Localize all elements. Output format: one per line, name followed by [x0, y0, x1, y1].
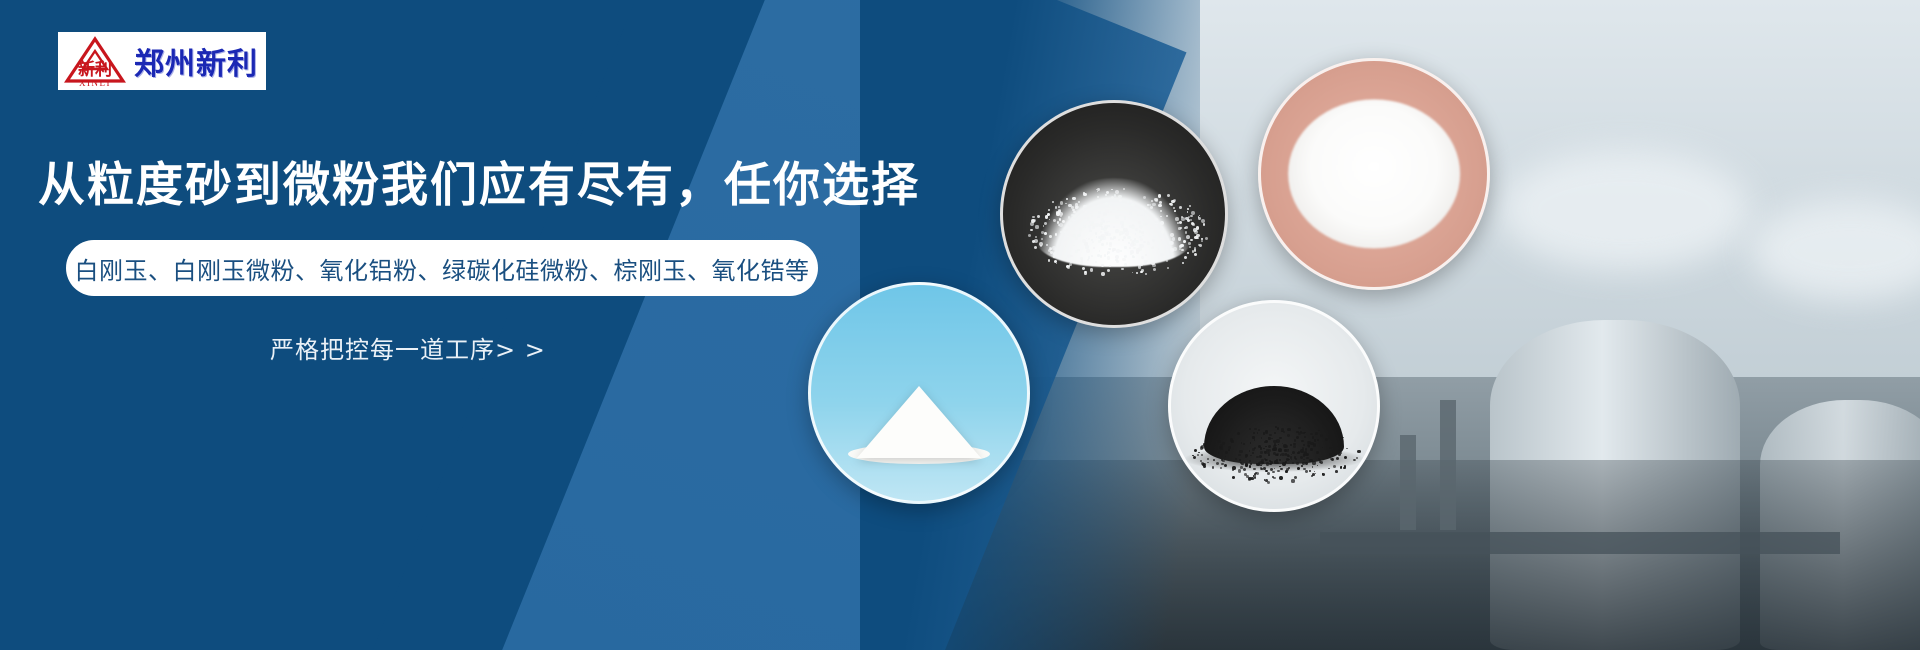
grain-speck [1079, 228, 1082, 231]
grain-speck [1030, 229, 1033, 232]
pipe-run [1320, 532, 1840, 554]
grain-speck [1275, 454, 1277, 456]
grain-speck [1145, 254, 1147, 256]
grain-speck [1251, 477, 1254, 480]
grain-speck [1261, 437, 1262, 438]
grain-speck [1184, 256, 1187, 259]
grain-speck [1077, 249, 1079, 251]
grain-speck [1185, 231, 1187, 233]
grain-speck [1069, 222, 1072, 225]
white-powder-mass [1288, 99, 1460, 248]
grain-speck [1032, 216, 1034, 218]
grain-speck [1093, 247, 1095, 249]
grain-speck [1180, 244, 1184, 248]
grain-speck [1120, 250, 1122, 252]
grain-speck [1250, 463, 1252, 465]
grain-speck [1346, 448, 1348, 450]
grain-speck [1049, 219, 1050, 220]
grain-speck [1201, 454, 1203, 456]
grain-speck [1132, 272, 1134, 274]
grain-speck [1307, 441, 1310, 444]
grain-speck [1298, 451, 1300, 453]
grain-speck [1082, 267, 1086, 271]
grain-speck [1101, 234, 1104, 237]
grain-speck [1265, 479, 1268, 482]
grain-speck [1132, 224, 1134, 226]
grain-speck [1115, 255, 1119, 259]
grain-speck [1123, 188, 1125, 190]
grain-speck [1310, 433, 1312, 435]
grain-speck [1083, 205, 1087, 209]
grain-speck [1178, 237, 1181, 240]
grain-speck [1072, 209, 1074, 211]
grain-speck [1312, 436, 1315, 439]
grain-speck [1160, 238, 1161, 239]
grain-speck [1140, 238, 1143, 241]
grain-speck [1258, 445, 1261, 448]
grain-speck [1112, 206, 1115, 209]
grain-speck [1189, 205, 1191, 207]
grain-speck [1065, 257, 1067, 259]
grain-speck [1140, 264, 1142, 266]
product-photo-dark-abrasive [1000, 100, 1228, 328]
grain-speck [1310, 448, 1313, 451]
grain-speck [1303, 454, 1305, 456]
grain-speck [1291, 454, 1292, 455]
grain-speck [1191, 211, 1195, 215]
grain-speck [1136, 272, 1138, 274]
grain-speck [1138, 221, 1140, 223]
grain-speck [1119, 231, 1123, 235]
grain-speck [1221, 463, 1223, 465]
grain-speck [1248, 478, 1251, 481]
grain-speck [1048, 259, 1051, 262]
grain-speck [1235, 458, 1237, 460]
grain-speck [1188, 242, 1191, 245]
grain-speck [1213, 459, 1215, 461]
grain-speck [1151, 262, 1155, 266]
grain-speck [1187, 211, 1188, 212]
grain-speck [1318, 458, 1320, 460]
grain-speck [1088, 238, 1090, 240]
grain-speck [1092, 226, 1095, 229]
grain-speck [1178, 227, 1181, 230]
grain-speck [1272, 471, 1275, 474]
grain-speck [1161, 230, 1164, 233]
grain-speck [1121, 268, 1124, 271]
grain-speck [1238, 454, 1240, 456]
grain-speck [1342, 437, 1343, 438]
grain-speck [1278, 444, 1279, 445]
grain-speck [1309, 470, 1311, 472]
grain-speck [1312, 461, 1315, 464]
grain-speck [1084, 242, 1088, 246]
grain-speck [1130, 253, 1132, 255]
grain-speck [1277, 470, 1280, 473]
grain-speck [1143, 196, 1146, 199]
grain-speck [1303, 444, 1305, 446]
grain-speck [1320, 434, 1323, 437]
grain-speck [1356, 457, 1358, 459]
grain-speck [1315, 432, 1318, 435]
grain-speck [1097, 215, 1100, 218]
grain-speck [1259, 455, 1262, 458]
grain-speck [1205, 237, 1209, 241]
grain-speck [1104, 254, 1107, 257]
grain-speck [1305, 470, 1307, 472]
grain-speck [1060, 201, 1064, 205]
grain-speck [1124, 263, 1127, 266]
grain-speck [1256, 456, 1258, 458]
grain-speck [1332, 450, 1335, 453]
grain-speck [1034, 246, 1037, 249]
grain-speck [1322, 473, 1324, 475]
grain-speck [1160, 221, 1164, 225]
grain-speck [1130, 203, 1133, 206]
grain-speck [1340, 452, 1342, 454]
grain-speck [1075, 206, 1078, 209]
grain-speck [1107, 269, 1110, 272]
company-logo[interactable]: 新利 XINLI 郑州新利 [58, 32, 266, 90]
grain-speck [1107, 233, 1110, 236]
grain-speck [1316, 451, 1319, 454]
grain-speck [1101, 272, 1104, 275]
grain-speck [1187, 208, 1189, 210]
grain-speck [1278, 448, 1282, 452]
grain-speck [1173, 199, 1176, 202]
grain-speck [1276, 439, 1279, 442]
grain-speck [1056, 255, 1058, 257]
triangle-logo-icon: 新利 XINLI [64, 35, 126, 87]
grain-speck [1304, 436, 1306, 438]
product-list-text: 白刚玉、白刚玉微粉、氧化铝粉、绿碳化硅微粉、棕刚玉、氧化锆等 [75, 251, 810, 286]
grain-speck [1080, 261, 1083, 264]
grain-speck [1249, 466, 1251, 468]
company-name-text: 郑州新利 [134, 39, 258, 83]
grain-speck [1129, 211, 1132, 214]
grain-speck [1353, 459, 1355, 461]
grain-speck [1175, 217, 1179, 221]
grain-speck [1109, 244, 1112, 247]
grain-speck [1245, 456, 1246, 457]
grain-speck [1066, 198, 1068, 200]
grain-speck [1231, 440, 1234, 443]
grain-speck [1203, 223, 1206, 226]
grain-speck [1091, 255, 1093, 257]
product-photo-black-granule [1168, 300, 1380, 512]
grain-speck [1145, 222, 1148, 225]
grain-speck [1283, 444, 1286, 447]
grain-speck [1199, 215, 1200, 216]
grain-speck [1136, 250, 1140, 254]
grain-speck [1265, 459, 1267, 461]
grain-speck [1041, 231, 1044, 234]
grain-speck [1285, 470, 1288, 473]
grain-speck [1133, 243, 1135, 245]
grain-speck [1294, 439, 1296, 441]
grain-speck [1267, 472, 1270, 475]
grain-speck [1268, 445, 1271, 448]
grain-speck [1328, 435, 1332, 439]
grain-speck [1203, 465, 1206, 468]
grain-speck [1035, 225, 1038, 228]
grain-speck [1084, 217, 1086, 219]
grain-speck [1045, 215, 1049, 219]
grain-speck [1052, 246, 1056, 250]
grain-speck [1073, 245, 1074, 246]
grain-speck [1158, 248, 1160, 250]
grain-speck [1060, 231, 1062, 233]
grain-speck [1071, 228, 1073, 230]
svg-text:XINLI: XINLI [79, 78, 111, 87]
grain-speck [1287, 428, 1291, 432]
grain-speck [1088, 256, 1090, 258]
grain-speck [1179, 248, 1181, 250]
grain-speck [1189, 246, 1191, 248]
grain-speck [1047, 213, 1050, 216]
grain-speck [1270, 461, 1273, 464]
grain-speck [1185, 217, 1188, 220]
grain-speck [1030, 222, 1034, 226]
grain-speck [1264, 441, 1266, 443]
grain-speck [1287, 454, 1289, 456]
grain-speck [1141, 269, 1144, 272]
grain-speck [1284, 449, 1286, 451]
grain-speck [1333, 448, 1335, 450]
grain-speck [1296, 431, 1298, 433]
grain-speck [1115, 215, 1119, 219]
grain-speck [1293, 443, 1295, 445]
grain-speck [1239, 450, 1242, 453]
grain-speck [1086, 249, 1090, 253]
grain-speck [1044, 222, 1047, 225]
grain-speck [1090, 268, 1093, 271]
grain-speck [1160, 216, 1162, 218]
grain-speck [1059, 218, 1062, 221]
grain-speck [1217, 440, 1220, 443]
grain-speck [1095, 232, 1097, 234]
grain-speck [1122, 224, 1123, 225]
grain-speck [1340, 466, 1342, 468]
grain-speck [1260, 451, 1262, 453]
cta-link[interactable]: 严格把控每一道工序> > [270, 330, 546, 365]
grain-speck [1050, 248, 1052, 250]
grain-speck [1073, 234, 1077, 238]
grain-speck [1118, 195, 1121, 198]
grain-speck [1032, 219, 1036, 223]
grain-speck [1116, 260, 1118, 262]
grain-speck [1103, 212, 1107, 216]
grain-speck [1132, 240, 1135, 243]
svg-text:新利: 新利 [78, 59, 112, 80]
grain-speck [1173, 207, 1175, 209]
grain-speck [1122, 239, 1124, 241]
grain-speck [1222, 460, 1224, 462]
grain-speck [1313, 443, 1316, 446]
grain-speck [1253, 432, 1255, 434]
grain-speck [1187, 252, 1189, 254]
hero-banner: 新利 XINLI 郑州新利 从粒度砂到微粉我们应有尽有，任你选择 白刚玉、白刚玉… [0, 0, 1920, 650]
grain-speck [1114, 194, 1116, 196]
grain-speck [1153, 268, 1156, 271]
grain-speck [1277, 462, 1278, 463]
grain-speck [1055, 233, 1058, 236]
grain-speck [1279, 476, 1283, 480]
grain-speck [1200, 460, 1202, 462]
grain-speck [1145, 273, 1147, 275]
grain-speck [1170, 233, 1174, 237]
powder-cone [857, 386, 981, 458]
product-list-pill: 白刚玉、白刚玉微粉、氧化铝粉、绿碳化硅微粉、棕刚玉、氧化锆等 [66, 240, 818, 296]
product-photo-powder-cone [808, 282, 1030, 504]
grain-speck [1335, 446, 1336, 447]
grain-speck [1343, 467, 1345, 469]
grain-speck [1263, 467, 1266, 470]
grain-speck [1179, 206, 1182, 209]
chimney-stack [1400, 435, 1416, 530]
grain-speck [1135, 228, 1138, 231]
grain-speck [1259, 461, 1263, 465]
grain-speck [1070, 261, 1071, 262]
grain-speck [1064, 231, 1066, 233]
grain-speck [1058, 206, 1060, 208]
grain-speck [1115, 190, 1119, 194]
grain-speck [1086, 215, 1089, 218]
grain-speck [1150, 206, 1153, 209]
grain-speck [1160, 210, 1162, 212]
grain-speck [1124, 246, 1127, 249]
grain-speck [1158, 204, 1162, 208]
grain-speck [1291, 479, 1294, 482]
grain-speck [1167, 267, 1169, 269]
grain-speck [1196, 226, 1199, 229]
grain-speck [1290, 444, 1291, 445]
grain-speck [1119, 214, 1121, 216]
grain-speck [1238, 469, 1241, 472]
grain-speck [1194, 247, 1196, 249]
grain-speck [1190, 219, 1192, 221]
page-title: 从粒度砂到微粉我们应有尽有，任你选择 [38, 146, 920, 215]
grain-speck [1073, 215, 1077, 219]
grain-speck [1253, 468, 1255, 470]
grain-speck [1170, 248, 1174, 252]
grain-speck [1268, 437, 1269, 438]
grain-speck [1056, 263, 1058, 265]
grain-speck [1258, 429, 1260, 431]
grain-speck [1335, 470, 1338, 473]
grain-speck [1110, 211, 1112, 213]
grain-speck [1279, 459, 1281, 461]
grain-speck [1263, 448, 1264, 449]
grain-speck [1263, 432, 1266, 435]
grain-speck [1099, 250, 1100, 251]
grain-speck [1056, 211, 1059, 214]
grain-speck [1280, 468, 1282, 470]
grain-speck [1196, 234, 1199, 237]
grain-speck [1068, 204, 1071, 207]
grain-speck [1266, 462, 1269, 465]
grain-speck [1182, 262, 1184, 264]
grain-speck [1161, 238, 1165, 242]
grain-speck [1053, 256, 1054, 257]
grain-speck [1194, 253, 1198, 257]
grain-speck [1232, 469, 1234, 471]
grain-speck [1101, 243, 1104, 246]
smoke-plume [1500, 150, 1750, 270]
grain-speck [1098, 211, 1101, 214]
grain-speck [1201, 238, 1202, 239]
grain-speck [1158, 194, 1162, 198]
grain-speck [1145, 260, 1147, 262]
grain-speck [1085, 211, 1087, 213]
grain-speck [1123, 203, 1125, 205]
grain-speck [1166, 260, 1168, 262]
grain-speck [1201, 240, 1203, 242]
grain-speck [1037, 215, 1040, 218]
grain-speck [1190, 215, 1192, 217]
product-photo-white-powder-dish [1258, 58, 1490, 290]
grain-speck [1192, 223, 1195, 226]
grain-speck [1059, 223, 1063, 227]
grain-speck [1183, 240, 1186, 243]
grain-speck [1041, 238, 1043, 240]
grain-speck [1336, 457, 1339, 460]
grain-speck [1063, 242, 1067, 246]
grain-speck [1028, 234, 1031, 237]
grain-speck [1109, 248, 1111, 250]
grain-speck [1222, 442, 1225, 445]
grain-speck [1107, 256, 1111, 260]
grain-speck [1301, 465, 1302, 466]
grain-speck [1105, 202, 1108, 205]
grain-speck [1282, 462, 1285, 465]
grain-speck [1152, 239, 1155, 242]
chimney-stack [1440, 400, 1456, 530]
grain-speck [1099, 224, 1102, 227]
grain-speck [1032, 240, 1035, 243]
grain-speck [1325, 438, 1328, 441]
grain-speck [1357, 450, 1361, 454]
grain-speck [1153, 235, 1156, 238]
grain-speck [1315, 473, 1316, 474]
grain-speck [1174, 210, 1176, 212]
grain-speck [1140, 226, 1142, 228]
